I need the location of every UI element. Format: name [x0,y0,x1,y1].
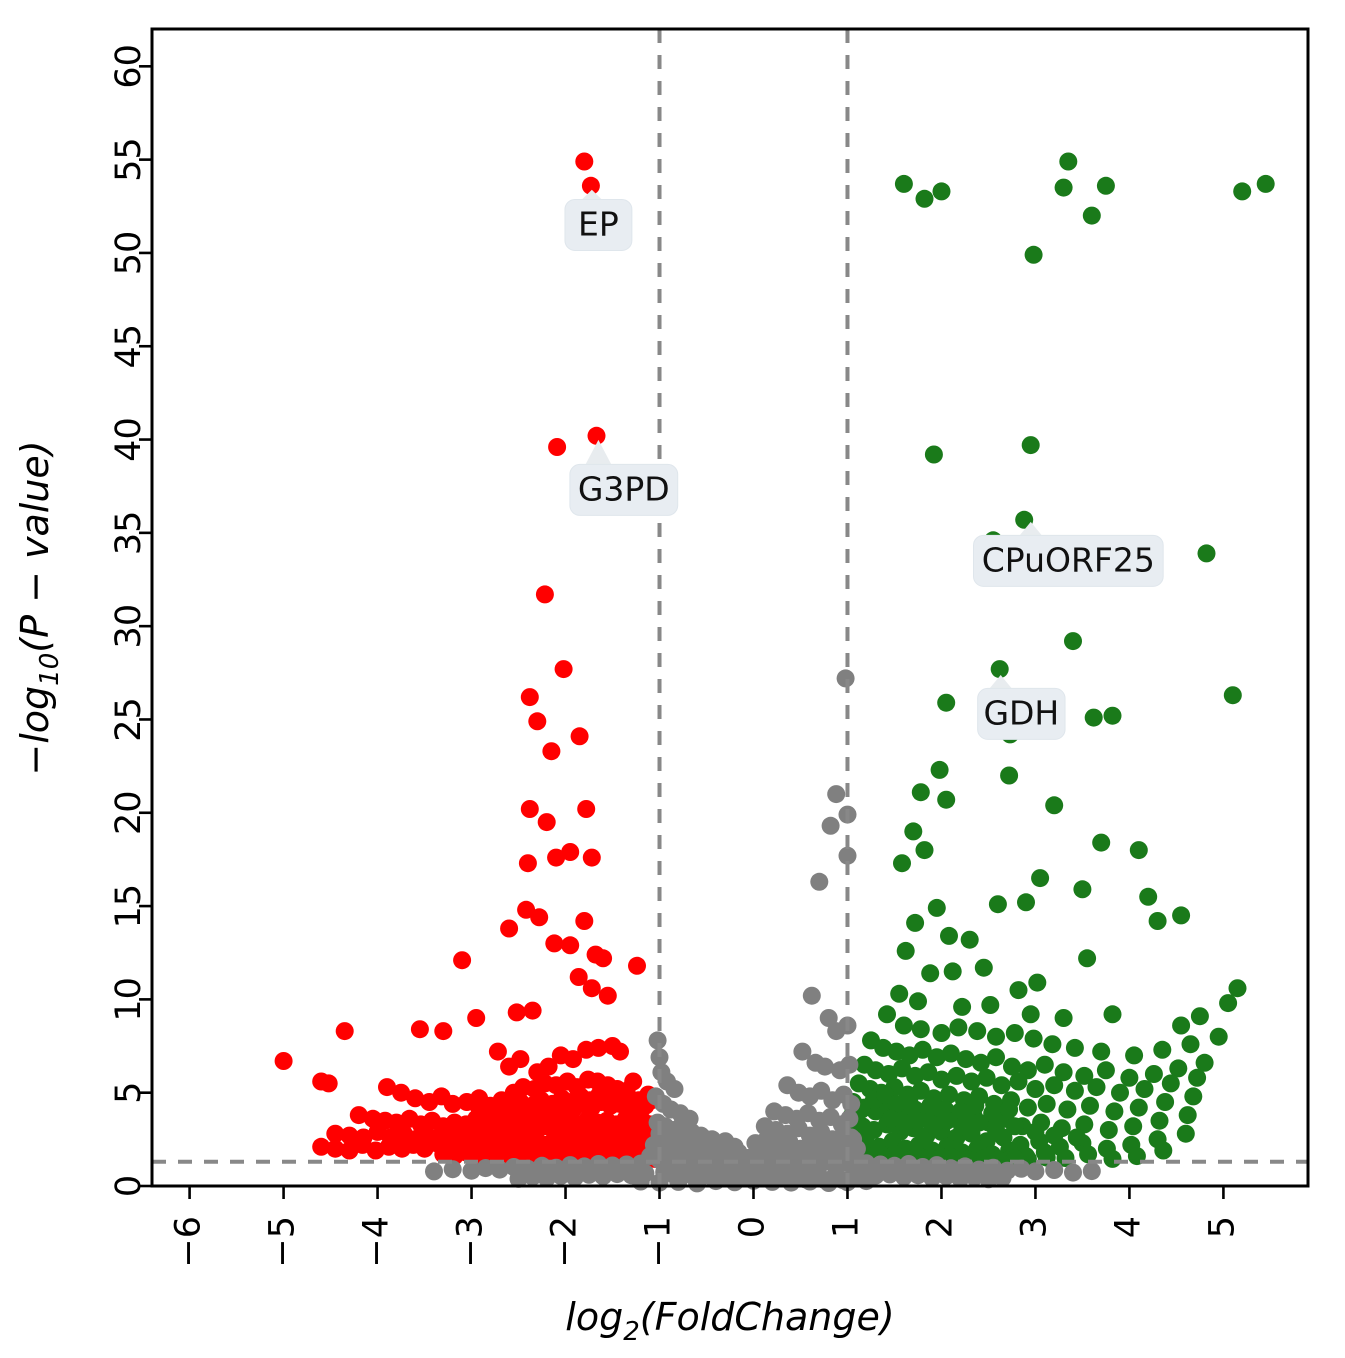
data-point [538,813,556,831]
data-point [425,1162,443,1180]
data-point [1026,1162,1044,1180]
data-point [1105,1102,1123,1120]
data-point [1097,1061,1115,1079]
data-point [508,1003,526,1021]
data-point [583,979,601,997]
x-tick-label: −4 [357,1216,397,1268]
data-point [816,1058,834,1076]
data-point [463,1162,481,1180]
annotation-label: EP [578,204,619,243]
y-tick-label: 45 [109,324,149,369]
data-point [1188,1069,1206,1087]
data-point [961,931,979,949]
x-tick-label: 1 [826,1216,866,1238]
data-point [575,153,593,171]
data-point [1149,912,1167,930]
data-point [912,1020,930,1038]
data-point [1092,834,1110,852]
data-point [1055,179,1073,197]
data-point [1010,981,1028,999]
data-point [904,822,922,840]
data-point [1045,796,1063,814]
y-tick-label: 60 [109,44,149,89]
data-point [895,175,913,193]
data-point [937,791,955,809]
data-point [1006,1117,1024,1135]
data-point [1104,707,1122,725]
data-point [890,985,908,1003]
data-point [940,927,958,945]
data-point [1083,207,1101,225]
data-point [1022,1005,1040,1023]
data-point [1257,175,1275,193]
y-tick-label: 20 [109,791,149,836]
data-point [1064,1164,1082,1182]
data-point [1000,1101,1018,1119]
data-point [1088,1078,1106,1096]
y-tick-label: 40 [109,417,149,462]
data-point [970,1114,988,1132]
data-point [1078,949,1096,967]
data-point [906,914,924,932]
data-point [921,1097,939,1115]
data-point [1139,888,1157,906]
data-point [1120,1069,1138,1087]
data-point [957,1050,975,1068]
data-point [923,1115,941,1133]
data-point [524,1002,542,1020]
data-point [1162,1074,1180,1092]
data-point [1068,1129,1086,1147]
data-point [1059,153,1077,171]
x-tick-label: 0 [732,1216,772,1238]
data-point [669,1173,687,1191]
data-point [320,1074,338,1092]
data-point [588,427,606,445]
data-point [829,1150,847,1168]
data-point [953,1117,971,1135]
data-point [1010,1073,1028,1091]
data-point [1066,1082,1084,1100]
x-tick-label: 3 [1014,1216,1054,1238]
data-point [912,783,930,801]
data-point [575,912,593,930]
data-point [1055,1009,1073,1027]
data-point [561,936,579,954]
data-point [1172,1017,1190,1035]
data-point [1097,177,1115,195]
y-tick-label: 15 [109,884,149,929]
data-point [489,1043,507,1061]
data-point [547,849,565,867]
y-tick-label: 50 [109,231,149,276]
data-point [966,1097,984,1115]
data-point [1000,767,1018,785]
data-point [1036,1056,1054,1074]
annotation-label: GDH [983,693,1059,732]
data-point [1028,974,1046,992]
data-point [666,1080,684,1098]
y-tick-label: 10 [109,977,149,1022]
y-tick-label: 25 [109,697,149,742]
data-point [1151,1112,1169,1130]
data-point [933,182,951,200]
data-point [577,800,595,818]
data-point [1017,893,1035,911]
data-point [953,998,971,1016]
data-point [803,987,821,1005]
data-point [801,1173,819,1191]
data-point [928,899,946,917]
data-point [916,841,934,859]
data-point [1038,1095,1056,1113]
data-point [989,895,1007,913]
data-point [1179,1106,1197,1124]
data-point [1104,1005,1122,1023]
data-point [536,585,554,603]
data-point [1025,246,1043,264]
data-point [1210,1028,1228,1046]
data-point [1184,1087,1202,1105]
data-point [1019,1099,1037,1117]
data-point [1177,1125,1195,1143]
x-tick-label: 5 [1202,1216,1242,1238]
data-point [1130,1099,1148,1117]
data-point [1154,1142,1172,1160]
data-point [1025,1030,1043,1048]
data-point [754,1150,772,1168]
data-point [594,949,612,967]
y-tick-label: 5 [109,1082,149,1104]
data-point [921,964,939,982]
data-point [628,957,646,975]
x-tick-label: −6 [169,1216,209,1268]
data-point [411,1020,429,1038]
data-point [901,1089,919,1107]
data-point [1198,544,1216,562]
data-point [820,1174,838,1192]
y-tick-label: 0 [109,1175,149,1197]
data-point [1182,1035,1200,1053]
data-point [1083,1162,1101,1180]
x-tick-label: −1 [639,1216,679,1268]
data-point [1022,436,1040,454]
data-point [434,1022,452,1040]
data-point [981,996,999,1014]
data-point [599,987,617,1005]
data-point [1130,841,1148,859]
data-point [895,1017,913,1035]
data-point [1104,1150,1122,1168]
data-point [944,962,962,980]
data-point [1100,1121,1118,1139]
data-point [1073,880,1091,898]
data-point [548,438,566,456]
data-point [925,446,943,464]
data-point [511,1050,529,1068]
data-point [688,1174,706,1192]
x-tick-label: 4 [1108,1216,1148,1238]
data-point [500,920,518,938]
data-point [987,1048,1005,1066]
data-point [893,854,911,872]
data-point [571,727,589,745]
data-point [583,849,601,867]
data-point [1191,1007,1209,1025]
data-point [909,992,927,1010]
data-point [1085,709,1103,727]
data-point [933,1024,951,1042]
data-point [1026,1123,1044,1141]
data-point [949,1018,967,1036]
data-point [336,1022,354,1040]
data-point [1125,1046,1143,1064]
data-point [1172,906,1190,924]
data-point [528,712,546,730]
data-point [453,951,471,969]
data-point [1145,1065,1163,1083]
volcano-plot-figure: −6−5−4−3−2−1012345 051015202530354045505… [0,0,1345,1358]
data-point [545,934,563,952]
data-point [467,1009,485,1027]
data-point [1153,1041,1171,1059]
data-point [1006,1024,1024,1042]
data-point [810,873,828,891]
data-point [1081,1097,1099,1115]
data-point [908,1112,926,1130]
data-point [916,190,934,208]
data-point [991,660,1009,678]
data-point [1031,869,1049,887]
data-point [1233,182,1251,200]
y-tick-label: 30 [109,604,149,649]
data-point [275,1052,293,1070]
data-point [1026,1080,1044,1098]
annotation-label: CPuORF25 [982,540,1155,579]
data-point [993,1076,1011,1094]
y-tick-label: 35 [109,511,149,556]
data-point [1045,1076,1063,1094]
data-point [878,1005,896,1023]
data-point [1064,632,1082,650]
data-point [994,1169,1012,1187]
data-point [897,942,915,960]
data-point [827,785,845,803]
data-point [1111,1084,1129,1102]
data-point [555,660,573,678]
data-point [1058,1101,1076,1119]
y-tick-label: 55 [109,137,149,182]
data-point [1224,686,1242,704]
data-point [782,1174,800,1192]
x-tick-label: −3 [451,1216,491,1268]
data-point [987,1121,1005,1139]
data-point [1043,1035,1061,1053]
data-point [937,694,955,712]
data-point [530,908,548,926]
x-tick-label: −5 [263,1216,303,1268]
data-point [1045,1127,1063,1145]
data-point [975,959,993,977]
data-point [987,1028,1005,1046]
data-point [726,1173,744,1191]
data-point [810,1151,828,1169]
data-point [822,817,840,835]
data-point [521,688,539,706]
data-point [1092,1043,1110,1061]
data-point [611,1043,629,1061]
data-point [763,1173,781,1191]
data-point [632,1173,650,1191]
data-point [521,800,539,818]
data-point [1136,1080,1154,1098]
data-point [1066,1039,1084,1057]
data-point [1156,1093,1174,1111]
volcano-plot-canvas: −6−5−4−3−2−1012345 051015202530354045505… [0,0,1345,1358]
x-tick-label: −2 [545,1216,585,1268]
data-point [542,742,560,760]
data-point [931,761,949,779]
data-point [1219,994,1237,1012]
data-point [1229,979,1247,997]
data-point [519,854,537,872]
data-point [1124,1117,1142,1135]
annotation-label: G3PD [578,469,670,508]
x-tick-label: 2 [920,1216,960,1238]
data-point [968,1022,986,1040]
